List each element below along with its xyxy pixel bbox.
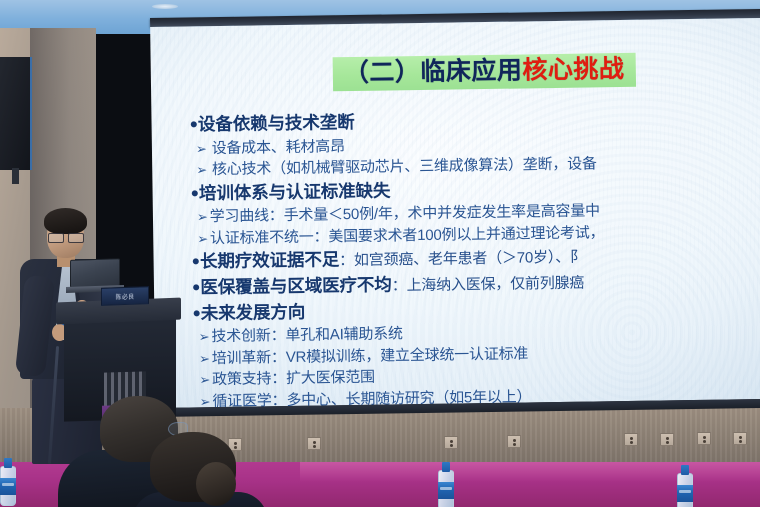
- bottle-label: [438, 482, 454, 499]
- wall-outlet: [624, 433, 638, 446]
- laptop-screen: [70, 258, 120, 288]
- slide-bullet-text: 设备成本、耗材高昂: [212, 138, 345, 157]
- slide-title: （二）临床应用核心挑战: [333, 53, 636, 91]
- bullet-arrow-icon: ➢: [199, 329, 212, 344]
- bullet-arrow-icon: ➢: [196, 141, 212, 156]
- slide-title-wrap: （二）临床应用核心挑战: [333, 53, 636, 91]
- slide-bullet-text: 培训体系与认证标准缺失: [199, 180, 391, 203]
- wall-outlet: [507, 435, 521, 448]
- laptop: [66, 259, 120, 291]
- presenter-hair: [44, 208, 87, 234]
- bottle-cap: [442, 462, 450, 472]
- bullet-arrow-icon: ➢: [197, 209, 210, 224]
- bottle-cap: [4, 458, 12, 468]
- slide-bullet-text: 政策支持：扩大医保范围: [212, 369, 375, 388]
- wall-outlet: [697, 432, 711, 445]
- bullet-arrow-icon: ➢: [199, 351, 212, 366]
- bottle-cap: [681, 465, 689, 475]
- slide-title-accent: 核心挑战: [522, 55, 624, 85]
- slide-bullet-text: 核心技术（如机械臂驱动芯片、三维成像算法）垄断，设备: [212, 156, 597, 179]
- wall-outlet: [444, 436, 458, 449]
- audience-hair-bun: [196, 462, 236, 506]
- glasses-icon: [47, 233, 84, 241]
- slide-bullet-text: 学习曲线：手术量＜50例/年，术中并发症发生率是高容量中: [210, 203, 600, 226]
- water-bottle: [438, 462, 454, 507]
- slide-bullet-text: 培训革新：VR模拟训练，建立全球统一认证标准: [212, 345, 529, 367]
- slide-bullet-text: 认证标准不统一：美国要求术者100例以上并通过理论考试，: [210, 224, 605, 247]
- bullet-arrow-icon: ➢: [197, 231, 210, 246]
- projection-screen: （二）临床应用核心挑战 ●设备依赖与技术垄断➢设备成本、耗材高昂➢核心技术（如机…: [150, 9, 760, 416]
- audience-member-front-center: [128, 432, 268, 507]
- wall-outlet: [733, 432, 747, 445]
- bullet-arrow-icon: ➢: [199, 372, 212, 387]
- slide-bullet-text: 长期疗效证据不足: [200, 250, 339, 272]
- podium-nameplate: 陈必良: [101, 286, 149, 306]
- slide-bullet-detail: ：如宫颈癌、老年患者（＞70岁）、阝: [339, 249, 585, 270]
- water-bottle: [0, 458, 16, 506]
- wall-speaker: [0, 57, 32, 170]
- podium-nameplate-text: 陈必良: [116, 291, 135, 301]
- slide-title-prefix: （二）临床应用: [344, 56, 523, 87]
- wall-outlet: [660, 433, 674, 446]
- presentation-photo-scene: （二）临床应用核心挑战 ●设备依赖与技术垄断➢设备成本、耗材高昂➢核心技术（如机…: [0, 0, 760, 507]
- slide-bullet-text: 设备依赖与技术垄断: [198, 112, 355, 134]
- slide-bullet-text: 医保覆盖与区域医疗不均: [200, 274, 392, 297]
- water-bottle: [677, 465, 693, 507]
- wall-outlet: [307, 437, 321, 450]
- slide: （二）临床应用核心挑战 ●设备依赖与技术垄断➢设备成本、耗材高昂➢核心技术（如机…: [150, 18, 760, 408]
- bottle-label: [677, 485, 693, 502]
- bottle-label: [0, 478, 16, 495]
- slide-bullet-text: 技术创新：单孔和AI辅助系统: [211, 325, 403, 345]
- slide-bullet-text: 未来发展方向: [201, 301, 306, 323]
- wall-speaker-mount: [12, 168, 19, 184]
- bullet-arrow-icon: ➢: [196, 162, 212, 177]
- slide-body: ●设备依赖与技术垄断➢设备成本、耗材高昂➢核心技术（如机械臂驱动芯片、三维成像算…: [189, 104, 760, 413]
- slide-bullet-detail: ：上海纳入医保，仅前列腺癌: [392, 275, 585, 295]
- ceiling-light: [152, 4, 178, 9]
